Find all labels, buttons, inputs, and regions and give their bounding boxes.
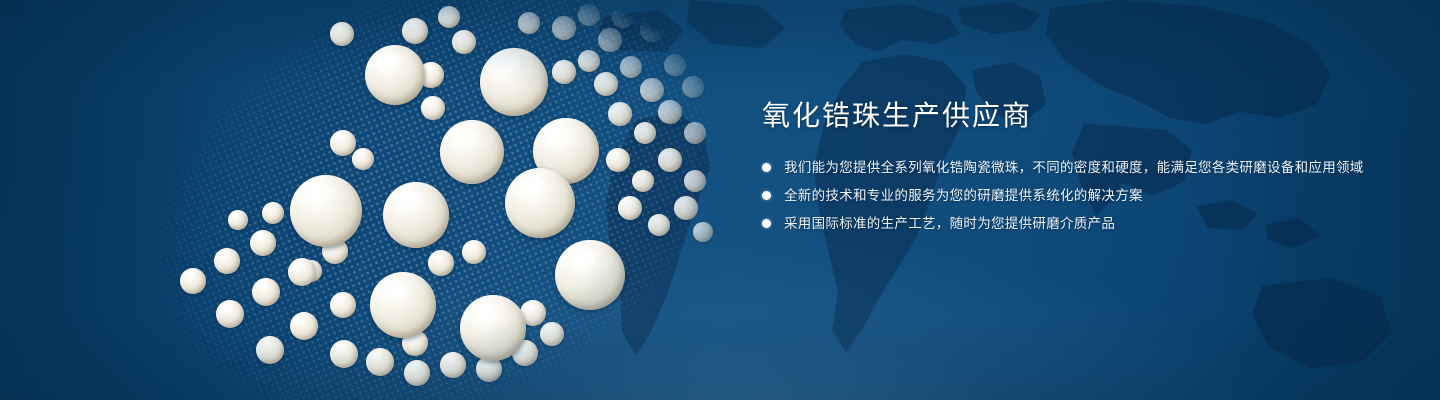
bead [428, 250, 454, 276]
bead [480, 48, 548, 116]
bead [664, 54, 686, 76]
bead [682, 76, 704, 98]
bead [693, 222, 713, 242]
bead [452, 30, 476, 54]
bead [216, 300, 244, 328]
bead [612, 6, 634, 28]
bead [618, 196, 642, 220]
bead [421, 96, 445, 120]
bead [404, 360, 430, 386]
bead [330, 130, 356, 156]
bullet-dot-icon [762, 191, 771, 200]
bead [666, 4, 688, 26]
bead [352, 148, 374, 170]
bead [555, 240, 625, 310]
bead [594, 72, 618, 96]
bead [180, 268, 206, 294]
bead [518, 12, 540, 34]
bead [214, 248, 240, 274]
bead [365, 45, 425, 105]
bead [290, 312, 318, 340]
bead [460, 295, 526, 361]
bead [640, 78, 664, 102]
bead [505, 168, 575, 238]
bead [440, 352, 466, 378]
zirconia-beads-photo [0, 0, 720, 400]
bead [330, 340, 358, 368]
bead [658, 100, 682, 124]
hero-banner: 氧化锆珠生产供应商 我们能为您提供全系列氧化锆陶瓷微珠，不同的密度和硬度，能满足… [0, 0, 1440, 400]
bead [262, 202, 284, 224]
bead [370, 272, 436, 338]
bead [578, 50, 600, 72]
bead [540, 322, 564, 346]
banner-text-column: 氧化锆珠生产供应商 我们能为您提供全系列氧化锆陶瓷微珠，不同的密度和硬度，能满足… [762, 98, 1382, 240]
bead [658, 148, 682, 172]
bead [648, 214, 670, 236]
bead [330, 292, 356, 318]
bead [252, 278, 280, 306]
bead [606, 148, 630, 172]
bullet-text: 采用国际标准的生产工艺，随时为您提供研磨介质产品 [784, 212, 1115, 235]
bead [632, 170, 654, 192]
list-item: 采用国际标准的生产工艺，随时为您提供研磨介质产品 [762, 212, 1382, 235]
bead [598, 28, 622, 52]
bead [256, 336, 284, 364]
bead [383, 182, 449, 248]
bullet-dot-icon [762, 219, 771, 228]
bead [620, 56, 642, 78]
bead [290, 175, 362, 247]
bead [402, 18, 428, 44]
bead [552, 16, 576, 40]
bead [578, 4, 600, 26]
feature-bullet-list: 我们能为您提供全系列氧化锆陶瓷微珠，不同的密度和硬度，能满足您各类研磨设备和应用… [762, 156, 1382, 235]
bullet-text: 全新的技术和专业的服务为您的研磨提供系统化的解决方案 [784, 184, 1143, 207]
bead [366, 348, 394, 376]
bead [228, 210, 248, 230]
bead [288, 258, 316, 286]
bead [552, 60, 576, 84]
bead [440, 120, 504, 184]
bead [634, 122, 656, 144]
bullet-dot-icon [762, 163, 771, 172]
bead [674, 196, 698, 220]
bead [330, 22, 354, 46]
bead [684, 170, 706, 192]
bead [608, 102, 632, 126]
list-item: 我们能为您提供全系列氧化锆陶瓷微珠，不同的密度和硬度，能满足您各类研磨设备和应用… [762, 156, 1382, 179]
bead [640, 18, 664, 42]
bead [462, 240, 486, 264]
bead [684, 122, 706, 144]
page-title: 氧化锆珠生产供应商 [762, 98, 1382, 134]
bullet-text: 我们能为您提供全系列氧化锆陶瓷微珠，不同的密度和硬度，能满足您各类研磨设备和应用… [784, 156, 1364, 179]
bead [438, 6, 460, 28]
bead [250, 230, 276, 256]
list-item: 全新的技术和专业的服务为您的研磨提供系统化的解决方案 [762, 184, 1382, 207]
bead [686, 26, 708, 48]
